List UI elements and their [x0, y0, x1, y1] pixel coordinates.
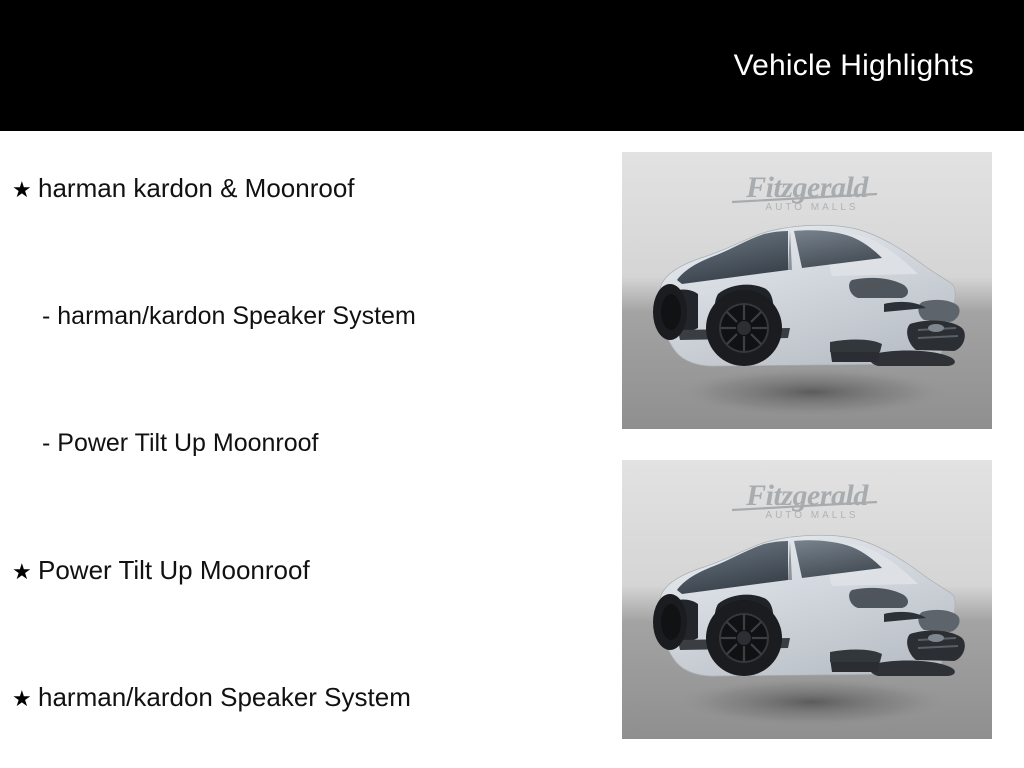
brand-badge-icon [928, 324, 944, 332]
svg-text:Fitzgerald: Fitzgerald [745, 171, 869, 204]
list-item-label: Power Tilt Up Moonroof [38, 555, 310, 585]
vehicle-photo-bottom: Fitzgerald AUTO MALLS [622, 460, 992, 739]
highlights-list: ★ harman kardon & Moonroof - harman/kard… [0, 131, 615, 768]
page-title: Vehicle Highlights [734, 48, 974, 84]
list-item-label: - Power Tilt Up Moonroof [42, 428, 319, 458]
front-wheel [706, 290, 782, 366]
star-bullet-icon: ★ [12, 688, 38, 710]
svg-text:AUTO MALLS: AUTO MALLS [765, 510, 858, 521]
svg-text:AUTO MALLS: AUTO MALLS [765, 202, 858, 213]
star-bullet-icon: ★ [12, 179, 38, 201]
list-item-label: harman/kardon Speaker System [38, 682, 411, 712]
list-item-label: harman kardon & Moonroof [38, 173, 355, 203]
brand-badge-icon [928, 634, 944, 642]
car-shadow [677, 368, 947, 416]
car-shadow [677, 678, 947, 726]
star-bullet-icon: ★ [12, 561, 38, 583]
rear-wheel [653, 284, 687, 340]
list-item: ★ harman kardon & Moonroof [0, 173, 355, 203]
vehicle-photo-bottom-image: Fitzgerald AUTO MALLS [622, 460, 992, 739]
list-item: ★ Power Tilt Up Moonroof [0, 555, 310, 585]
vehicle-photo-top-image: Fitzgerald AUTO MALLS [622, 152, 992, 429]
list-item-label: - harman/kardon Speaker System [42, 301, 416, 331]
front-wheel [706, 600, 782, 676]
rear-wheel [653, 594, 687, 650]
list-item: - harman/kardon Speaker System [0, 301, 416, 331]
list-item: - Power Tilt Up Moonroof [0, 428, 319, 458]
list-item: ★ harman/kardon Speaker System [0, 682, 411, 712]
svg-text:Fitzgerald: Fitzgerald [745, 479, 869, 512]
headlight-icon [918, 610, 959, 632]
headlight-icon [918, 300, 959, 322]
vehicle-photo-top: Fitzgerald AUTO MALLS [622, 152, 992, 429]
header-bar: Vehicle Highlights [0, 0, 1024, 131]
